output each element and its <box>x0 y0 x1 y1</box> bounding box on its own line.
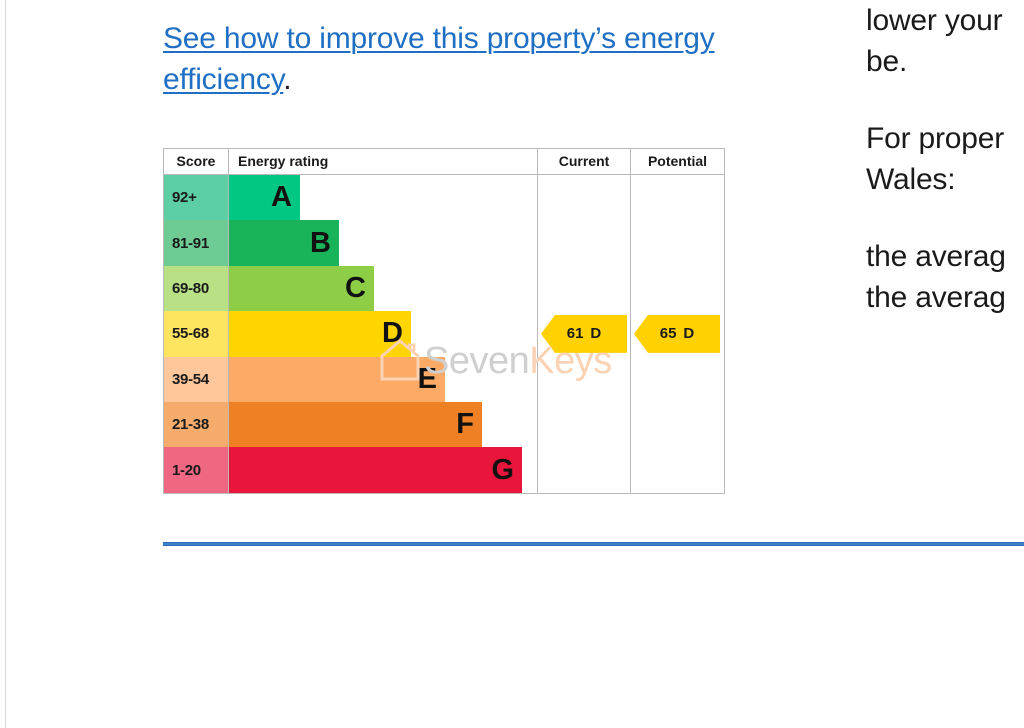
energy-rating-table: Score Energy rating Current Potential 92… <box>163 148 725 494</box>
score-range-cell: 81-91 <box>164 220 228 265</box>
energy-band-bar-c: C <box>229 266 374 311</box>
current-rating-value: 61 <box>567 325 584 342</box>
epc-certificate-page: See how to improve this property’s energ… <box>0 0 1024 728</box>
score-range-cell: 69-80 <box>164 266 228 311</box>
energy-rating-table-header: Score Energy rating Current Potential <box>164 149 724 175</box>
score-range-cell: 39-54 <box>164 357 228 402</box>
energy-rating-row: 21-38F <box>164 402 724 447</box>
energy-band-letter: F <box>456 410 474 439</box>
energy-band-letter: B <box>310 229 331 258</box>
right-column-paragraph: the averag the averag <box>866 236 1024 318</box>
energy-rating-row: 1-20G <box>164 447 724 492</box>
score-range-cell: 92+ <box>164 175 228 220</box>
header-current: Current <box>538 149 630 174</box>
page-left-edge-rule <box>5 0 6 728</box>
energy-band-letter: A <box>271 183 292 212</box>
energy-band-bar-e: E <box>229 357 445 402</box>
score-range-cell: 55-68 <box>164 311 228 356</box>
energy-band-letter: C <box>345 274 366 303</box>
right-column-paragraph: For proper Wales: <box>866 118 1024 200</box>
header-score: Score <box>164 149 228 174</box>
improve-link-trailing-period: . <box>283 63 291 96</box>
energy-band-bar-f: F <box>229 402 482 447</box>
potential-rating-value: 65 <box>660 325 677 342</box>
energy-rating-row: 81-91B <box>164 220 724 265</box>
energy-band-letter: D <box>382 319 403 348</box>
improve-efficiency-link[interactable]: See how to improve this property’s energ… <box>163 22 715 96</box>
energy-band-letter: G <box>491 456 514 485</box>
potential-rating-band: D <box>683 325 694 342</box>
right-column-paragraph: lower your be. <box>866 0 1024 82</box>
energy-rating-row: 69-80C <box>164 266 724 311</box>
header-energy-rating: Energy rating <box>229 149 537 174</box>
energy-band-bar-g: G <box>229 447 522 492</box>
improve-efficiency-paragraph: See how to improve this property’s energ… <box>163 18 733 100</box>
header-potential: Potential <box>631 149 724 174</box>
current-rating-band: D <box>590 325 601 342</box>
energy-band-bar-d: D <box>229 311 411 356</box>
energy-band-bar-a: A <box>229 175 300 220</box>
energy-rating-row: 39-54E <box>164 357 724 402</box>
current-rating-badge: 61 D <box>541 315 627 353</box>
score-range-cell: 1-20 <box>164 447 228 492</box>
energy-band-letter: E <box>418 365 437 394</box>
section-divider <box>163 542 1024 546</box>
energy-band-bar-b: B <box>229 220 339 265</box>
score-range-cell: 21-38 <box>164 402 228 447</box>
energy-rating-row: 92+A <box>164 175 724 220</box>
right-column-text: lower your be.For proper Wales:the avera… <box>866 0 1024 318</box>
potential-rating-badge: 65 D <box>634 315 720 353</box>
